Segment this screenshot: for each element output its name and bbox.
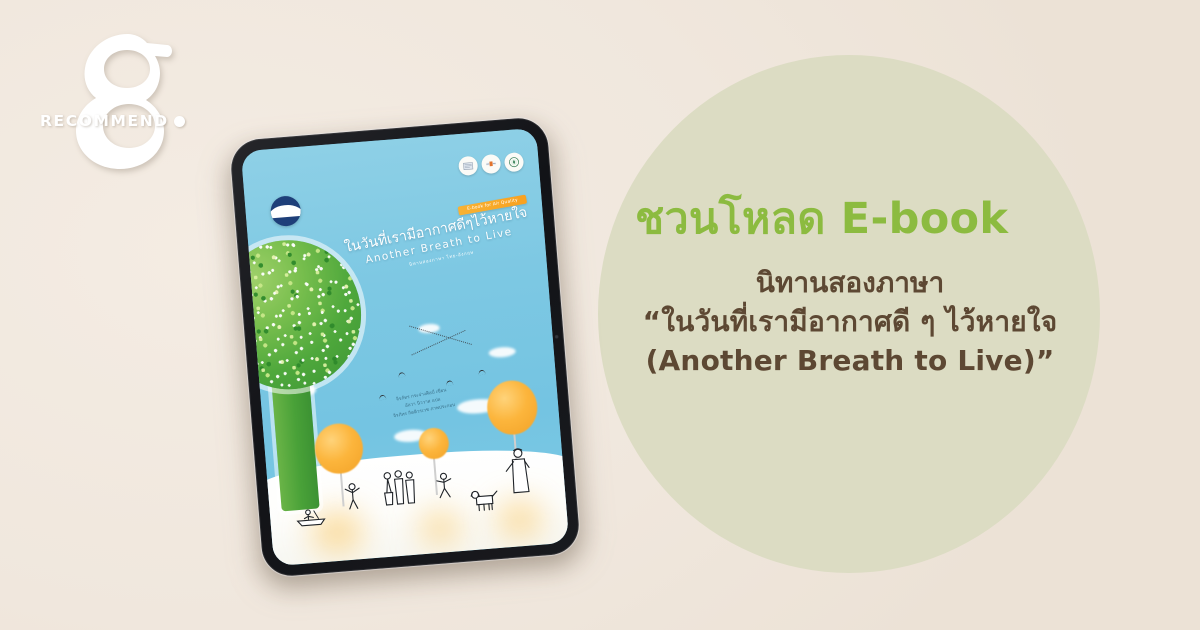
logo-g-icon xyxy=(36,26,186,191)
dog-icon xyxy=(470,486,502,512)
running-child-icon xyxy=(433,471,455,499)
partner-badge-book-icon xyxy=(458,155,478,175)
woman-with-dog-icon xyxy=(502,447,534,497)
tablet-bezel: E-book for Air Quality ในวันที่เรามีอากา… xyxy=(229,116,581,578)
promo-banner: RECOMMEND xyxy=(0,0,1200,630)
child-figure-icon xyxy=(342,482,364,511)
partner-badge-ribbon-icon xyxy=(481,154,501,174)
promo-subtitle-line-3: (Another Breath to Live)” xyxy=(600,342,1100,381)
logo-wordmark: RECOMMEND xyxy=(40,114,186,130)
ebook-cover: E-book for Air Quality ในวันที่เรามีอากา… xyxy=(241,128,569,566)
tablet-device[interactable]: E-book for Air Quality ในวันที่เรามีอากา… xyxy=(229,116,581,578)
camera-dot-icon xyxy=(555,335,559,339)
partner-badge-seal-icon xyxy=(504,152,524,172)
promo-headline: ชวนโหลด E-book xyxy=(600,196,1100,242)
promo-subtitle-line-1: นิทานสองภาษา xyxy=(600,264,1100,303)
brand-logo[interactable]: RECOMMEND xyxy=(36,26,186,191)
family-figures-icon xyxy=(379,469,420,508)
logo-wordmark-text: RECOMMEND xyxy=(40,114,169,130)
dot-icon xyxy=(174,116,185,127)
child-in-boat-icon xyxy=(293,504,328,527)
promo-text-block: ชวนโหลด E-book นิทานสองภาษา “ในวันที่เรา… xyxy=(600,196,1100,380)
promo-subtitle-line-2: “ในวันที่เรามีอากาศดี ๆ ไว้หายใจ xyxy=(600,303,1100,342)
tablet-screen[interactable]: E-book for Air Quality ในวันที่เรามีอากา… xyxy=(241,128,569,566)
